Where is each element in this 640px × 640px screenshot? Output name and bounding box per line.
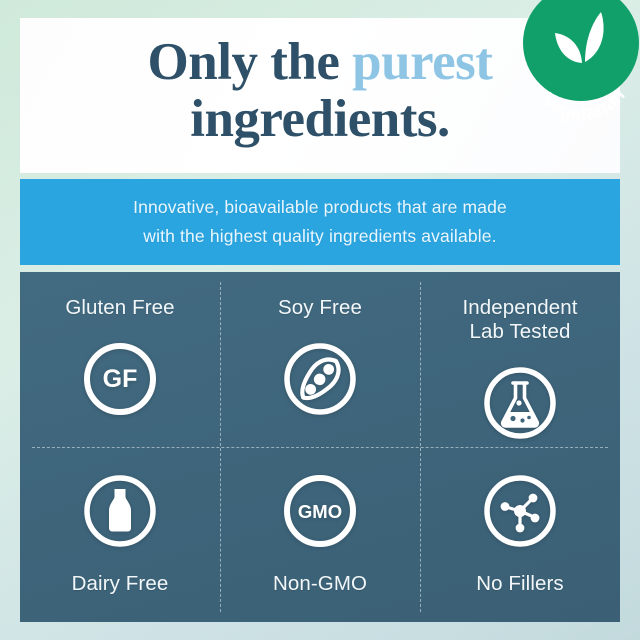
feature-label-line2: Lab Tested: [462, 320, 577, 344]
page-title: Only the purest ingredients.: [20, 34, 620, 148]
molecule-icon: [481, 472, 559, 550]
feature-label: No Fillers: [476, 572, 564, 596]
feature-label: Soy Free: [278, 296, 362, 320]
headline-line2: ingredients.: [20, 91, 620, 148]
feature-soy-free[interactable]: Soy Free: [220, 272, 420, 447]
gmo-icon-text: GMO: [298, 501, 342, 522]
gf-circle-icon: GF: [81, 340, 159, 418]
headline-accent-word: purest: [352, 33, 492, 91]
infographic-card: Only the purest ingredients. Vegetarian: [20, 18, 620, 622]
headline-part1: Only the: [148, 33, 353, 91]
feature-dairy-free[interactable]: Dairy Free: [20, 447, 220, 622]
gf-icon-text: GF: [103, 365, 138, 393]
feature-label-line1: Non-GMO: [273, 572, 367, 596]
tagline-line2: with the highest quality ingredients ava…: [133, 222, 507, 251]
feature-gluten-free[interactable]: Gluten Free GF: [20, 272, 220, 447]
feature-label-line1: Gluten Free: [65, 296, 174, 320]
feature-independent-lab-tested[interactable]: Independent Lab Tested: [420, 272, 620, 447]
feature-grid: Gluten Free GF Soy Free: [20, 272, 620, 622]
feature-panel: Gluten Free GF Soy Free: [20, 272, 620, 622]
feature-label: Non-GMO: [273, 572, 367, 596]
feature-label-line1: Dairy Free: [72, 572, 169, 596]
feature-label-line1: Soy Free: [278, 296, 362, 320]
feature-non-gmo[interactable]: GMO Non-GMO: [220, 447, 420, 622]
feature-label-line1: Independent: [462, 296, 577, 320]
tagline-line1: Innovative, bioavailable products that a…: [133, 193, 507, 222]
feature-label: Gluten Free: [65, 296, 174, 320]
milk-bottle-icon: [81, 472, 159, 550]
headline-section: Only the purest ingredients. Vegetarian: [20, 18, 620, 173]
gmo-circle-icon: GMO: [281, 472, 359, 550]
soybean-pod-icon: [281, 340, 359, 418]
feature-label-line1: No Fillers: [476, 572, 564, 596]
feature-no-fillers[interactable]: No Fillers: [420, 447, 620, 622]
lab-flask-icon: [481, 364, 559, 442]
tagline-text: Innovative, bioavailable products that a…: [107, 193, 533, 251]
feature-label: Dairy Free: [72, 572, 169, 596]
feature-label: Independent Lab Tested: [462, 296, 577, 344]
tagline-banner: Innovative, bioavailable products that a…: [20, 179, 620, 265]
